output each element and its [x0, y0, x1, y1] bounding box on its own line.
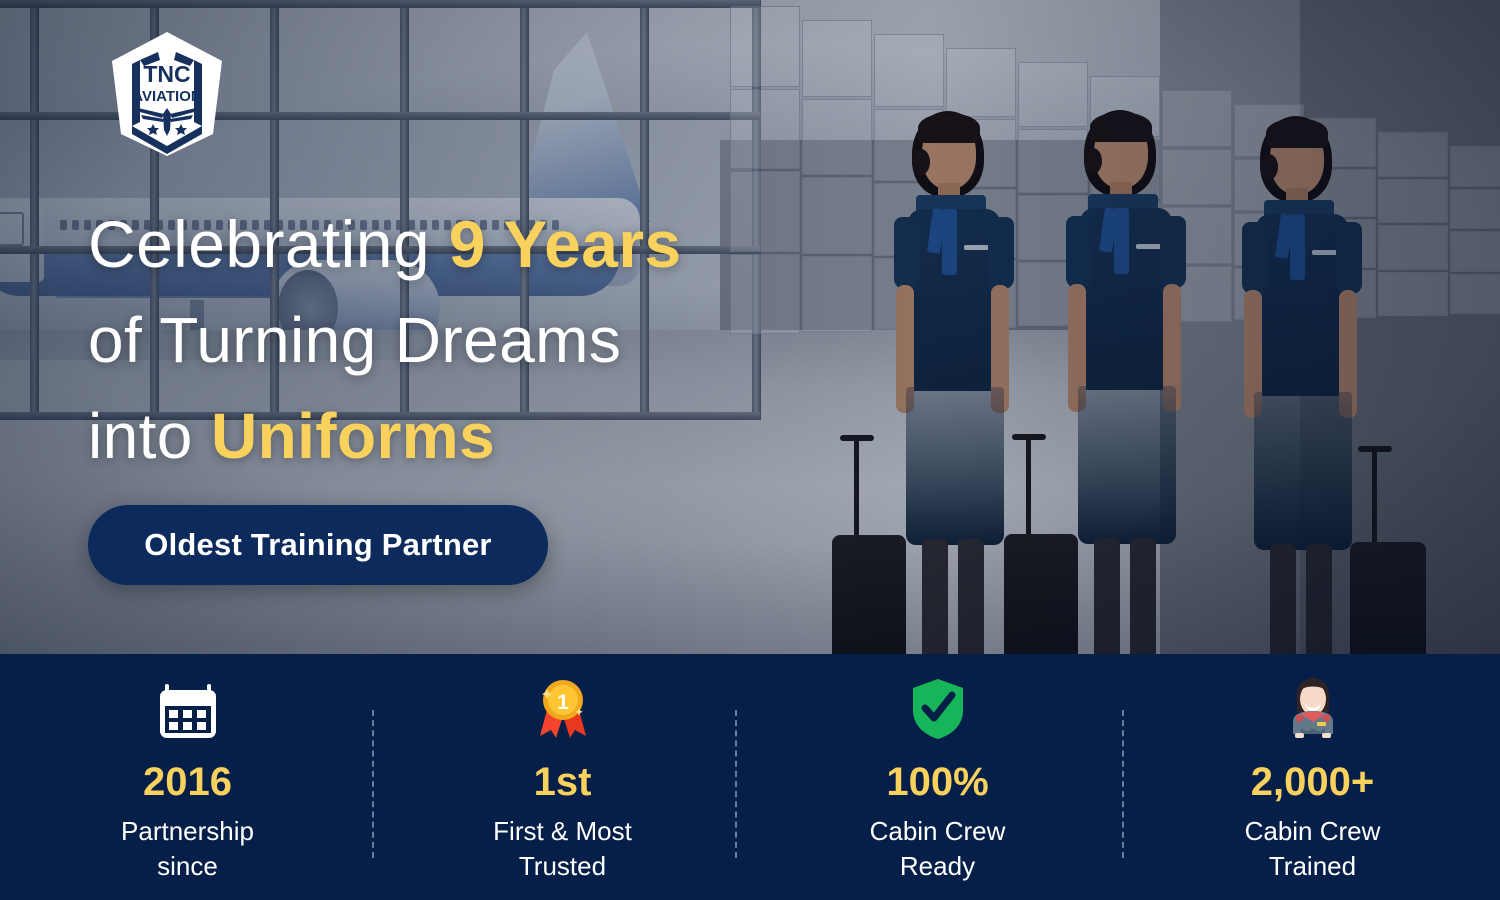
stat-label: Cabin Crew Trained	[1245, 814, 1381, 884]
stat-label-line-2: Trusted	[519, 851, 606, 881]
stats-divider-2	[735, 710, 737, 858]
headline-line-3-plain: into	[88, 400, 211, 472]
flight-attendant-icon	[1283, 678, 1343, 740]
stat-label-line-1: Cabin Crew	[870, 816, 1006, 846]
headline-line-1: Celebrating 9 Years	[88, 196, 768, 292]
headline-line-2-plain: of Turning Dreams	[88, 304, 621, 376]
calendar-icon	[158, 678, 218, 740]
stat-item-first-trusted: 1 1st First & Most Trusted	[375, 654, 750, 900]
stat-label-line-1: Cabin Crew	[1245, 816, 1381, 846]
stat-number: 100%	[886, 762, 988, 802]
stats-divider-3	[1122, 710, 1124, 858]
promotional-banner: TNC AVIATION Celebrating 9 Years of Turn…	[0, 0, 1500, 900]
stat-label-line-1: Partnership	[121, 816, 254, 846]
headline-line-3: into Uniforms	[88, 388, 768, 484]
pill-label: Oldest Training Partner	[144, 527, 491, 563]
stat-label-line-2: since	[157, 851, 218, 881]
headline-line-2: of Turning Dreams	[88, 292, 768, 388]
stat-item-cabin-crew-trained: 2,000+ Cabin Crew Trained	[1125, 654, 1500, 900]
stats-band: 2016 Partnership since 1 1st F	[0, 654, 1500, 900]
hero-photo-area: TNC AVIATION Celebrating 9 Years of Turn…	[0, 0, 1500, 654]
stat-number: 2,000+	[1251, 762, 1374, 802]
stat-item-partnership: 2016 Partnership since	[0, 654, 375, 900]
stat-label-line-2: Ready	[900, 851, 975, 881]
tnc-aviation-logo[interactable]: TNC AVIATION	[108, 30, 226, 158]
headline-line-1-accent: 9 Years	[449, 207, 682, 281]
oldest-training-partner-badge[interactable]: Oldest Training Partner	[88, 505, 548, 585]
first-place-medal-icon: 1	[534, 678, 592, 740]
stat-item-cabin-crew-ready: 100% Cabin Crew Ready	[750, 654, 1125, 900]
hero-headline: Celebrating 9 Years of Turning Dreams in…	[88, 196, 768, 484]
svg-text:TNC: TNC	[143, 61, 190, 87]
stat-number: 2016	[143, 762, 232, 802]
stat-label-line-1: First & Most	[493, 816, 632, 846]
headline-line-1-plain: Celebrating	[88, 207, 449, 281]
stat-label-line-2: Trained	[1269, 851, 1356, 881]
stat-number: 1st	[534, 762, 592, 802]
svg-text:AVIATION: AVIATION	[132, 88, 201, 105]
stats-divider-1	[372, 710, 374, 858]
shield-wings-emblem-icon: TNC AVIATION	[108, 30, 226, 158]
headline-line-3-accent: Uniforms	[211, 400, 495, 472]
stat-label: Partnership since	[121, 814, 254, 884]
green-shield-check-icon	[910, 678, 966, 740]
svg-text:1: 1	[557, 691, 569, 714]
stat-label: Cabin Crew Ready	[870, 814, 1006, 884]
stat-label: First & Most Trusted	[493, 814, 632, 884]
